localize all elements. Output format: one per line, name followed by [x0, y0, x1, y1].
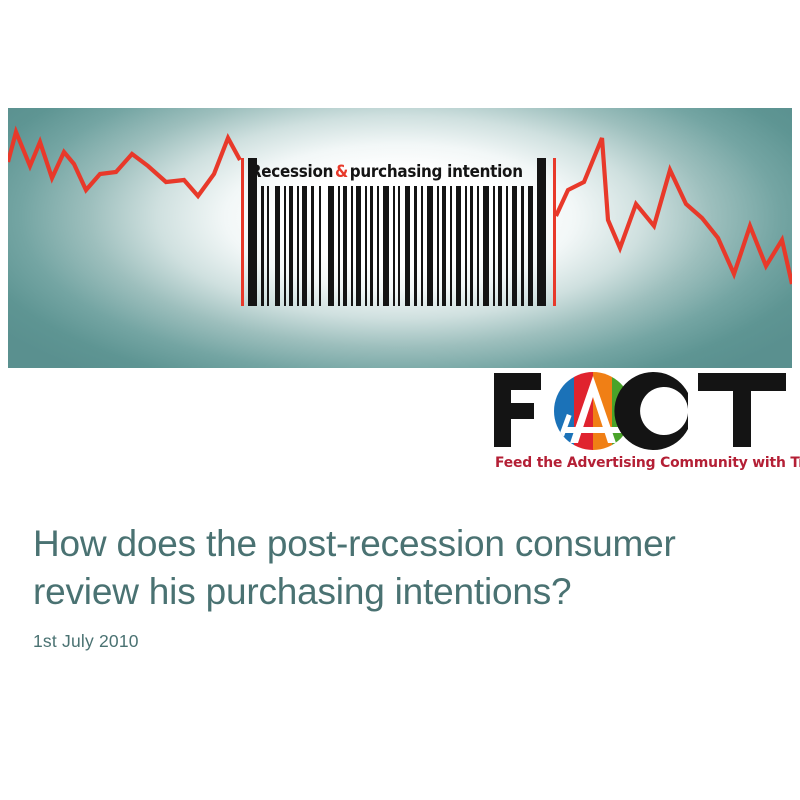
barcode-red-guard-right — [553, 158, 556, 306]
barcode-bars — [261, 186, 533, 306]
barcode-caption-ampersand: & — [333, 162, 350, 181]
trend-line-right — [556, 138, 792, 284]
logo-letter-f — [494, 373, 541, 447]
title-block: How does the post-recession consumerrevi… — [33, 520, 763, 616]
barcode-black-guard-right — [537, 158, 546, 306]
fact-logo: Feed the Advertising Community with Tren… — [492, 369, 792, 481]
barcode-caption-suffix: purchasing intention — [350, 162, 523, 181]
barcode-red-guard-left — [241, 158, 244, 306]
logo-letter-c — [614, 372, 688, 450]
barcode-caption: Recession & purchasing intention — [263, 159, 510, 184]
barcode-graphic: Recession & purchasing intention — [241, 158, 556, 306]
fact-logo-tagline: Feed the Advertising Community with Tren… — [495, 455, 783, 471]
trend-line-left — [8, 132, 240, 196]
logo-letter-t — [698, 373, 786, 447]
page-title-line-1: How does the post-recession consumer — [33, 523, 676, 564]
fact-logo-mark — [492, 369, 792, 451]
page-title-line-2: review his purchasing intentions? — [33, 571, 571, 612]
page-title: How does the post-recession consumerrevi… — [33, 520, 763, 616]
slide-date: 1st July 2010 — [33, 631, 139, 652]
hero-banner-image: Recession & purchasing intention — [8, 108, 792, 368]
barcode-caption-prefix: Recession — [250, 162, 333, 181]
